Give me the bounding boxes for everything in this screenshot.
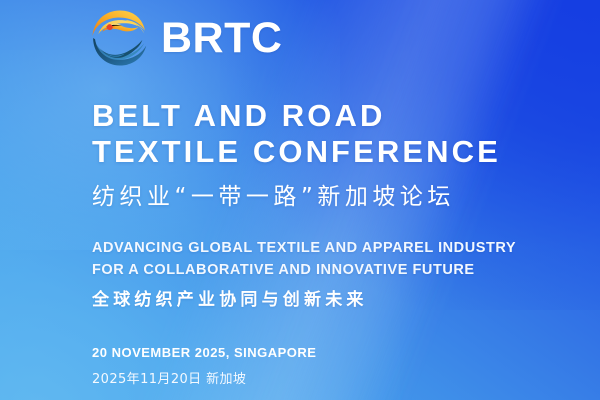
conference-poster: BRTC BELT AND ROAD TEXTILE CONFERENCE 纺织… <box>0 0 600 400</box>
event-date-location: 20 NOVEMBER 2025, SINGAPORE 2025年11月20日 … <box>92 343 316 390</box>
date-chinese: 2025年11月20日 新加坡 <box>92 370 316 390</box>
tagline-line-2: FOR A COLLABORATIVE AND INNOVATIVE FUTUR… <box>92 259 516 281</box>
tagline-line-1: ADVANCING GLOBAL TEXTILE AND APPAREL IND… <box>92 237 516 259</box>
tagline: ADVANCING GLOBAL TEXTILE AND APPAREL IND… <box>92 237 516 281</box>
brand-lockup: BRTC <box>88 6 282 70</box>
title-line-1: BELT AND ROAD <box>92 98 501 134</box>
chinese-tagline: 全球纺织产业协同与创新未来 <box>92 288 368 312</box>
chinese-title: 纺织业“一带一路”新加坡论坛 <box>92 182 455 212</box>
brand-wordmark: BRTC <box>161 17 282 60</box>
poster-title: BELT AND ROAD TEXTILE CONFERENCE <box>92 98 501 170</box>
title-line-2: TEXTILE CONFERENCE <box>92 134 501 170</box>
poster-content: BRTC BELT AND ROAD TEXTILE CONFERENCE 纺织… <box>0 0 600 400</box>
date-english: 20 NOVEMBER 2025, SINGAPORE <box>92 343 316 363</box>
brtc-circular-wave-logo-icon <box>88 6 152 70</box>
